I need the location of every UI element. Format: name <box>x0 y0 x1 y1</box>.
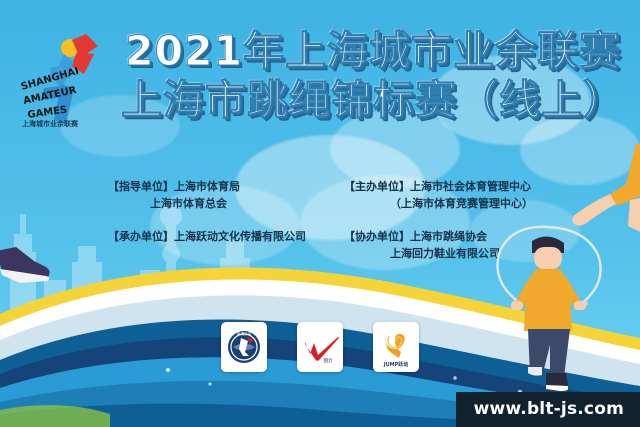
shanghai-amateur-games-logo: SHANGHAI AMATEUR GAMES 上海城市业余联赛 <box>14 28 118 128</box>
organizer-value: 上海市体育总会 <box>150 197 227 210</box>
organizer-value: 上海跃动文化传播有限公司 <box>174 230 306 243</box>
svg-text:回力: 回力 <box>324 357 333 364</box>
poster-canvas: SHANGHAI AMATEUR GAMES 上海城市业余联赛 2021年上海城… <box>0 0 640 427</box>
organizer-label: 【主办单位】 <box>344 180 410 193</box>
watermark-url: www.blt-js.com <box>474 399 624 419</box>
circular-emblem-logo-icon: 跳绳协会 <box>221 322 267 372</box>
page-title-line-2: 上海市跳绳锦标赛（线上） <box>118 79 628 122</box>
sponsor-logo-card[interactable]: 回力 <box>297 322 343 372</box>
organizer-group-undertaker: 【承办单位】上海跃动文化传播有限公司 <box>108 228 348 245</box>
organizer-label: 【协办单位】 <box>344 230 410 243</box>
organizer-column-left: 【指导单位】上海市体育局 上海市体育总会 【承办单位】上海跃动文化传播有限公司 <box>108 178 348 261</box>
sneaker-decor-icon <box>0 245 54 285</box>
site-watermark: www.blt-js.com <box>456 392 640 427</box>
organizer-value: 上海市体育局 <box>174 180 240 193</box>
title-block: 2021年上海城市业余联赛 上海市跳绳锦标赛（线上） <box>118 30 628 122</box>
sponsor-logo-card[interactable]: JUMP跃动 <box>373 322 419 372</box>
athlete-head <box>534 247 562 269</box>
organizer-line: （上海市体育竞赛管理中心） <box>344 195 604 212</box>
organizer-value: 上海市社会体育管理中心 <box>410 180 531 193</box>
organizer-line: 【指导单位】上海市体育局 <box>108 178 348 195</box>
page-title-line-1: 2021年上海城市业余联赛 <box>118 30 628 73</box>
organizer-line: 【主办单位】上海市社会体育管理中心 <box>344 178 604 195</box>
logo-chinese-label: 上海城市业余联赛 <box>22 119 79 128</box>
organizer-line: 上海市体育总会 <box>108 195 348 212</box>
organizer-group-host: 【主办单位】上海市社会体育管理中心 （上海市体育竞赛管理中心） <box>344 178 604 212</box>
svg-text:JUMP跃动: JUMP跃动 <box>383 361 409 368</box>
organizer-label: 【指导单位】 <box>108 180 174 193</box>
organizer-line: 【承办单位】上海跃动文化传播有限公司 <box>108 228 348 245</box>
organizer-value: （上海市体育竞赛管理中心） <box>390 197 533 210</box>
organizer-label: 【承办单位】 <box>108 230 174 243</box>
organizer-value: 上海市跳绳协会 <box>410 230 487 243</box>
warrior-swoosh-logo-icon: 回力 <box>297 322 343 372</box>
svg-text:跳绳协会: 跳绳协会 <box>237 331 252 336</box>
jump-ribbon-logo-icon: JUMP跃动 <box>373 322 419 372</box>
organizer-group-guidance: 【指导单位】上海市体育局 上海市体育总会 <box>108 178 348 212</box>
sponsor-logo-strip: 跳绳协会 回力 JUMP跃动 <box>0 322 640 372</box>
sponsor-logo-card[interactable]: 跳绳协会 <box>221 322 267 372</box>
